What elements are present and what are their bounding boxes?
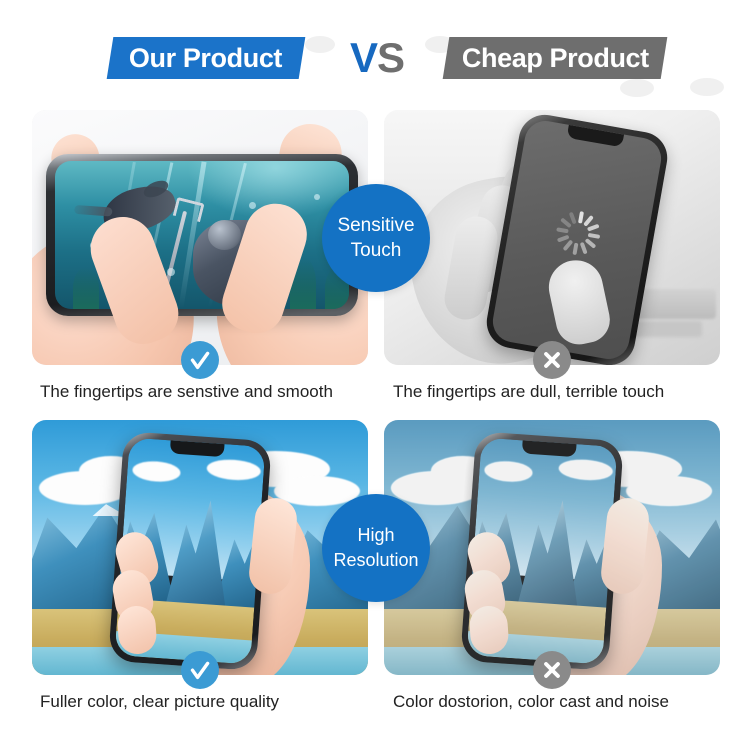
panel-bottom-left [32, 420, 368, 675]
feature-badge-line2: Resolution [333, 548, 418, 573]
cross-icon [533, 651, 571, 689]
cross-icon [533, 341, 571, 379]
loading-spinner-icon [553, 208, 604, 259]
photo-high-resolution-bad [384, 420, 720, 675]
feature-badge-high-resolution: High Resolution [322, 494, 430, 602]
photo-sensitive-touch-good [32, 110, 368, 365]
panel-bottom-right [384, 420, 720, 675]
caption-top-right: The fingertips are dull, terrible touch [393, 382, 664, 402]
feature-badge-sensitive-touch: Sensitive Touch [322, 184, 430, 292]
caption-top-left: The fingertips are senstive and smooth [40, 382, 333, 402]
photo-sensitive-touch-bad [384, 110, 720, 365]
check-icon [181, 341, 219, 379]
product-comparison-infographic: Our Product VS Cheap Product [0, 0, 750, 750]
feature-badge-line2: Touch [351, 238, 402, 263]
caption-bottom-left: Fuller color, clear picture quality [40, 692, 279, 712]
feature-badge-line1: High [357, 523, 394, 548]
photo-high-resolution-good [32, 420, 368, 675]
comparison-grid [0, 0, 750, 750]
caption-bottom-right: Color dostorion, color cast and noise [393, 692, 669, 712]
panel-top-left [32, 110, 368, 365]
check-icon [181, 651, 219, 689]
feature-badge-line1: Sensitive [337, 213, 414, 238]
panel-top-right [384, 110, 720, 365]
